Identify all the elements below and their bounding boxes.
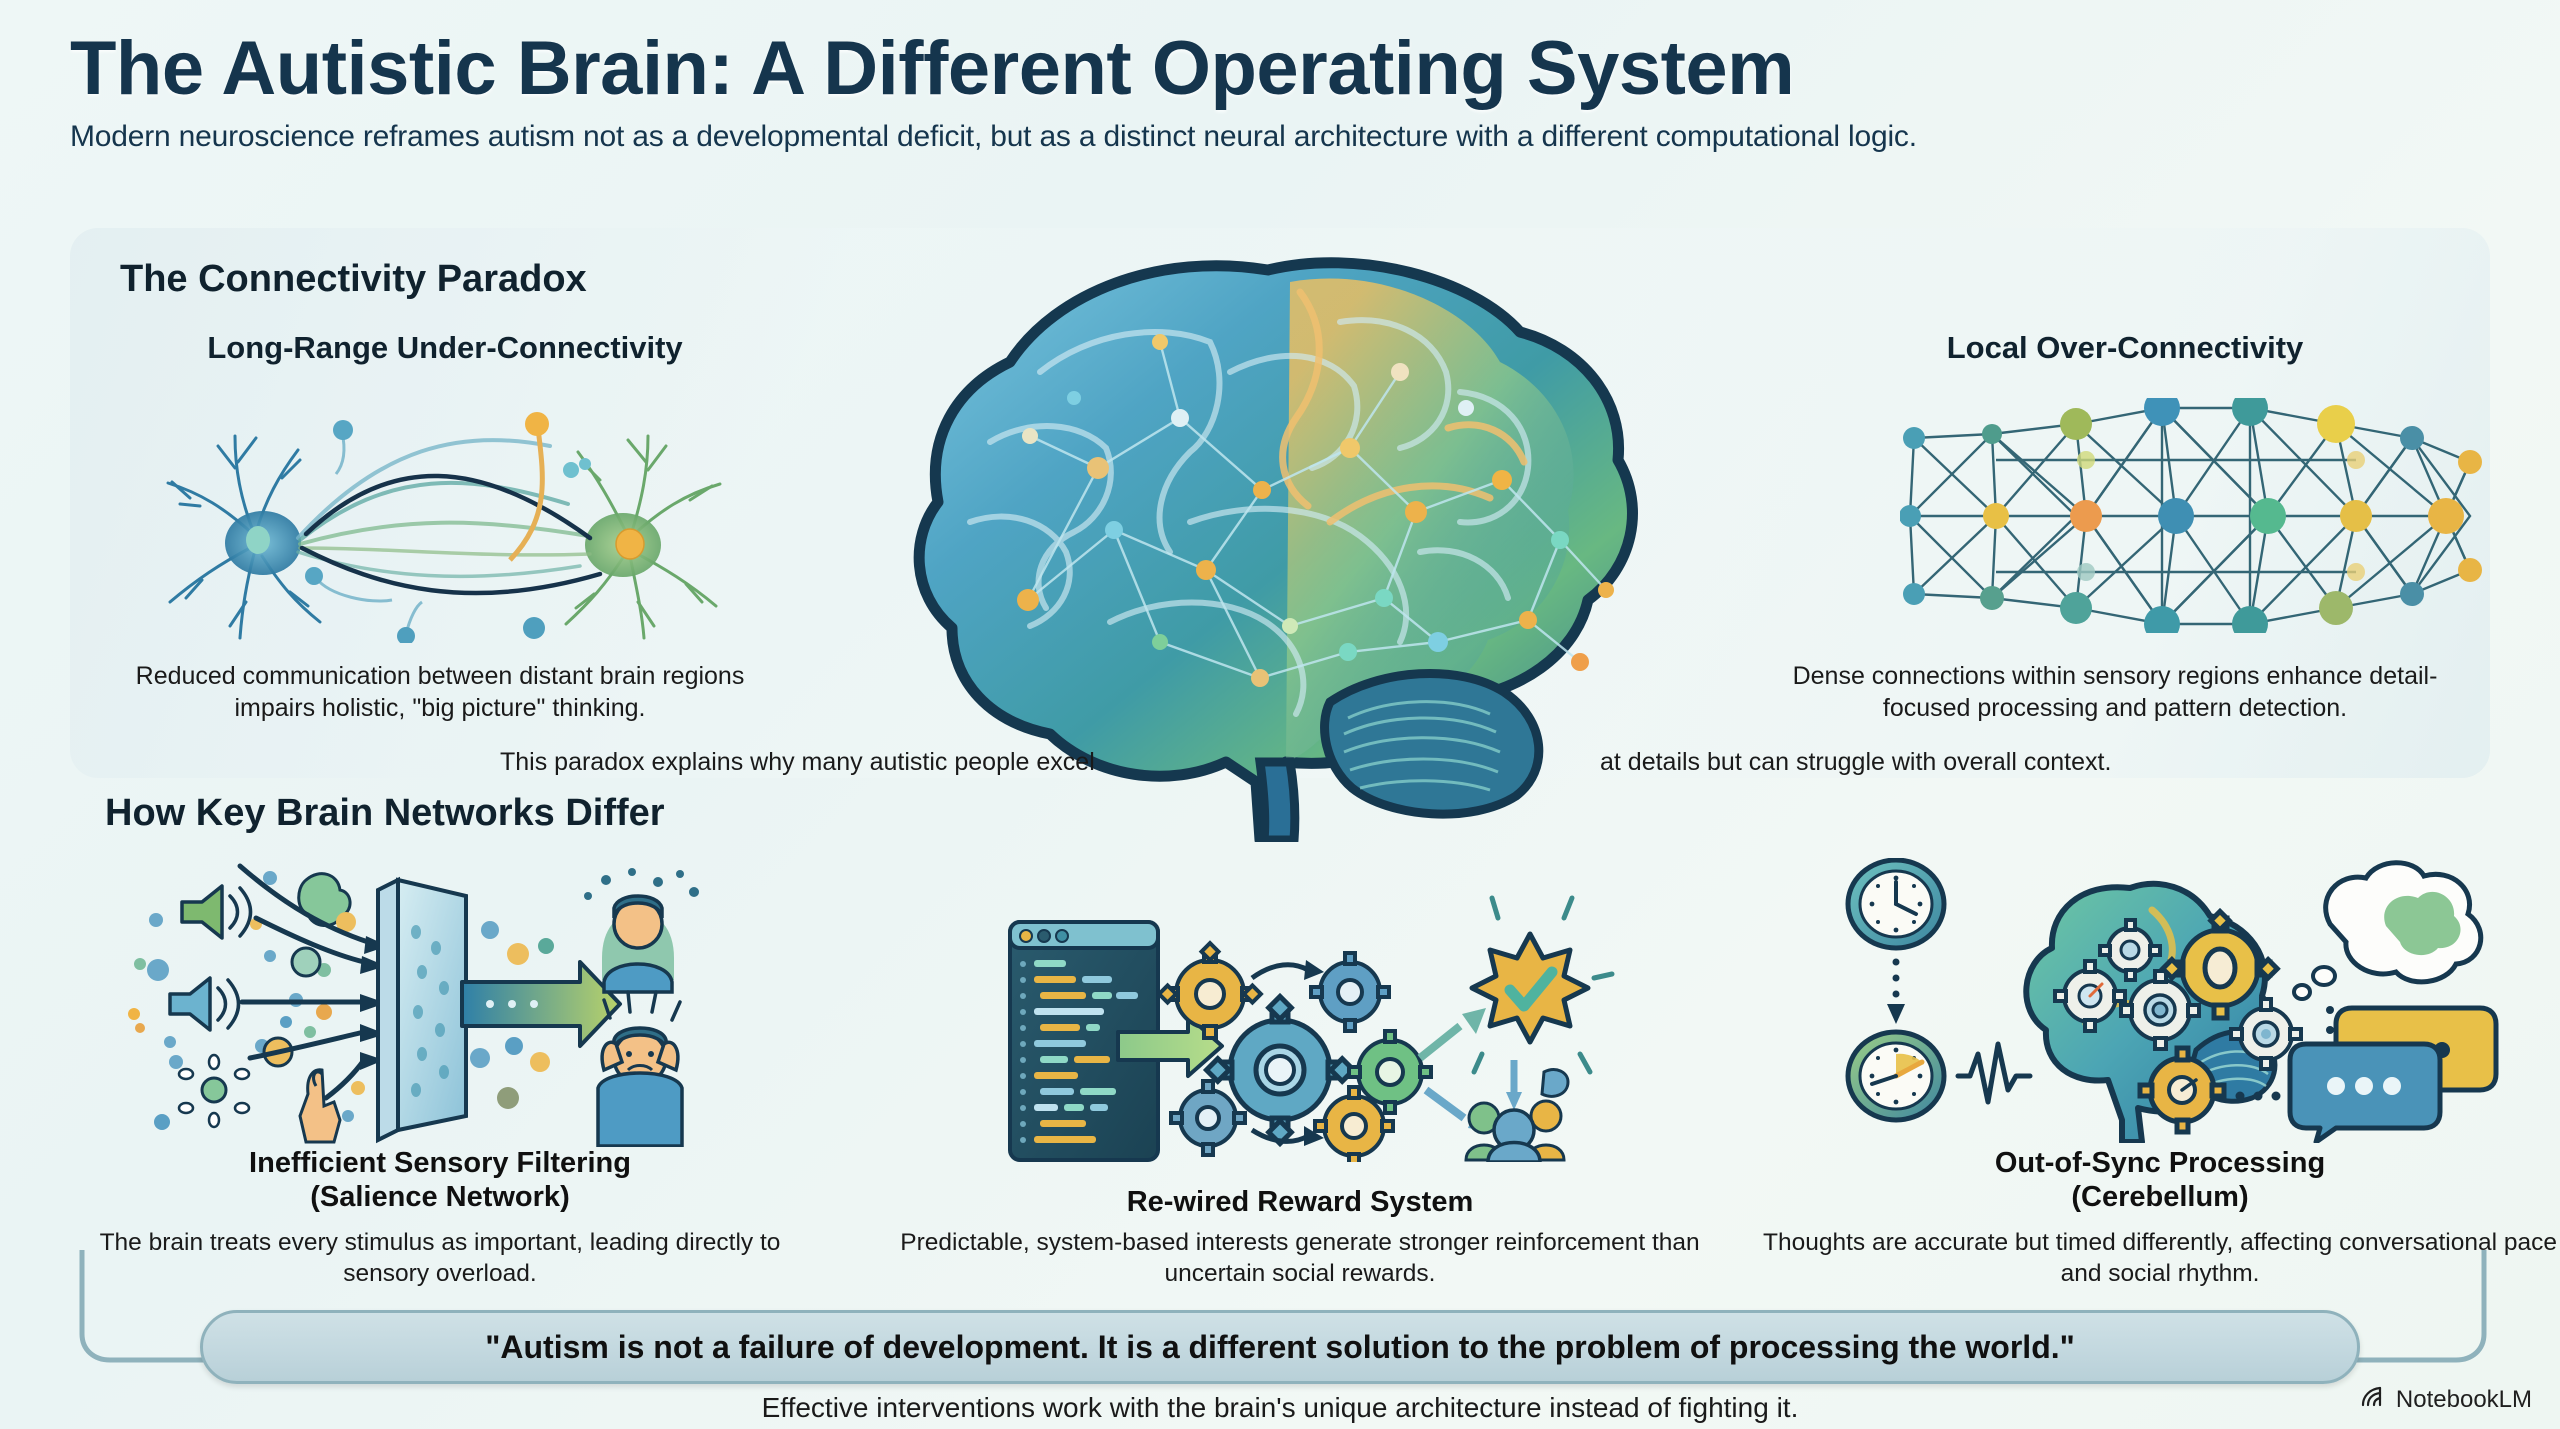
page-header: The Autistic Brain: A Different Operatin… (0, 0, 2560, 154)
page-title: The Autistic Brain: A Different Operatin… (70, 30, 2490, 108)
notebooklm-waves-icon (2360, 1384, 2386, 1415)
dense-network-mesh-illustration (1900, 398, 2485, 633)
column-1-heading-line1: Inefficient Sensory Filtering (60, 1146, 820, 1180)
quote-subtext: Effective interventions work with the br… (0, 1392, 2560, 1424)
sensory-filter-overload-illustration (110, 862, 730, 1147)
over-connectivity-caption: Dense connections within sensory regions… (1750, 660, 2480, 724)
connectivity-paradox-title: The Connectivity Paradox (120, 258, 587, 301)
long-range-under-connectivity-heading: Long-Range Under-Connectivity (120, 330, 770, 366)
key-brain-networks-title: How Key Brain Networks Differ (105, 792, 665, 835)
clocks-brain-gears-speech-illustration (1800, 858, 2505, 1143)
under-connectivity-caption: Reduced communication between distant br… (100, 660, 780, 724)
two-neurons-illustration (130, 388, 750, 643)
column-2-heading: Re-wired Reward System (900, 1185, 1700, 1219)
paradox-summary-left: This paradox explains why many autistic … (500, 748, 1095, 777)
column-1-heading: Inefficient Sensory Filtering (Salience … (60, 1146, 820, 1214)
page-subtitle: Modern neuroscience reframes autism not … (70, 120, 2490, 154)
column-3-heading-line1: Out-of-Sync Processing (1760, 1146, 2560, 1180)
quote-banner: "Autism is not a failure of development.… (200, 1310, 2360, 1384)
column-2-heading-line1: Re-wired Reward System (900, 1185, 1700, 1219)
code-gears-reward-illustration (990, 882, 1615, 1162)
quote-text: "Autism is not a failure of development.… (485, 1329, 2075, 1366)
notebooklm-brand-label: NotebookLM (2396, 1386, 2532, 1414)
paradox-summary-right: at details but can struggle with overall… (1600, 748, 2111, 777)
column-3-heading-line2: (Cerebellum) (1760, 1180, 2560, 1214)
column-3-heading: Out-of-Sync Processing (Cerebellum) (1760, 1146, 2560, 1214)
column-1-heading-line2: (Salience Network) (60, 1180, 820, 1214)
local-over-connectivity-heading: Local Over-Connectivity (1800, 330, 2450, 366)
notebooklm-brand: NotebookLM (2360, 1384, 2532, 1415)
